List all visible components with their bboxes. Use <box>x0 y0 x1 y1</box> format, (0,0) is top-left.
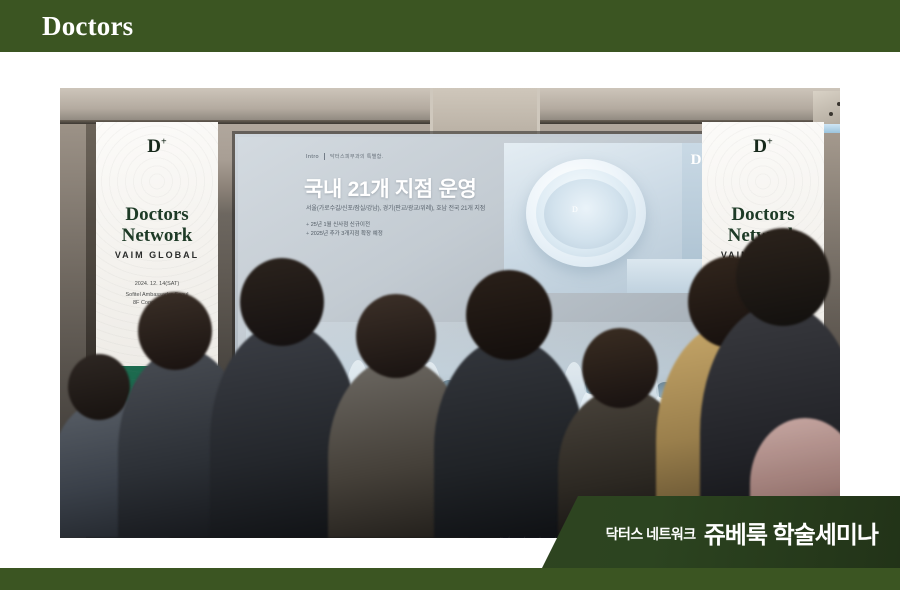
rollup-title-line1: Doctors <box>702 204 824 225</box>
footer-band <box>0 568 900 590</box>
slide-device-photo: D <box>504 143 722 293</box>
slide-kicker-sub: 닥터스피부과의 특별함. <box>330 153 384 160</box>
slide-bullet-item: 2025년 추가 3개지점 확장 예정 <box>306 230 383 239</box>
slide-kicker-divider <box>324 153 325 160</box>
event-photo: D Intro 닥터스피부과의 특별함. 국내 21개 지점 운영 서울(가로수… <box>60 88 840 538</box>
page-title: Doctors <box>42 11 133 42</box>
slide-kicker: Intro 닥터스피부과의 특별함. <box>306 153 384 160</box>
slide-subtitle: 서울(가로수길/신포/잠실/강남), 경기(판교/광교/위례), 호남 전국 2… <box>306 203 485 212</box>
banner-subtitle: 닥터스 네트워크 <box>606 524 696 544</box>
audience-head <box>736 228 830 326</box>
ceiling-light-inner-ring <box>544 179 628 249</box>
rollup-title-line1: Doctors <box>96 204 218 225</box>
audience-head <box>356 294 436 378</box>
slide-bullet-list: 25년 1월 신사점 신규이전 2025년 추가 3개지점 확장 예정 <box>306 221 383 239</box>
rollup-title-left: Doctors Network <box>96 204 218 246</box>
banner-title: 쥬베룩 학술세미나 <box>704 515 878 550</box>
event-title-banner: 닥터스 네트워크 쥬베룩 학술세미나 <box>520 496 900 568</box>
rollup-logo-mark: + <box>161 137 167 148</box>
slide-bullet-item: 25년 1월 신사점 신규이전 <box>306 221 383 230</box>
audience-head <box>240 258 324 346</box>
rollup-logo-letter: D <box>147 136 161 157</box>
header-band: Doctors <box>0 0 900 52</box>
slide-kicker-label: Intro <box>306 154 319 160</box>
audience-head <box>466 270 552 360</box>
projector-dot <box>837 102 840 106</box>
projector-dot <box>829 112 833 116</box>
ceiling-light-logo: D <box>572 205 578 214</box>
rollup-date: 2024. 12. 14(SAT) <box>96 280 218 288</box>
poster-page: Doctors <box>0 0 900 590</box>
rollup-logo-letter: D <box>753 136 767 157</box>
slide-title: 국내 21개 지점 운영 <box>304 173 477 203</box>
rollup-title-line2: Network <box>96 225 218 246</box>
audience-head <box>138 292 212 370</box>
rollup-logo-left: D+ <box>96 136 218 158</box>
audience-head <box>582 328 658 408</box>
rollup-logo-right: D+ <box>702 136 824 158</box>
rollup-subtitle-left: VAIM GLOBAL <box>96 250 218 260</box>
audience-head <box>68 354 130 420</box>
slide-logo-letter: D <box>691 152 702 168</box>
rollup-logo-mark: + <box>767 137 773 148</box>
